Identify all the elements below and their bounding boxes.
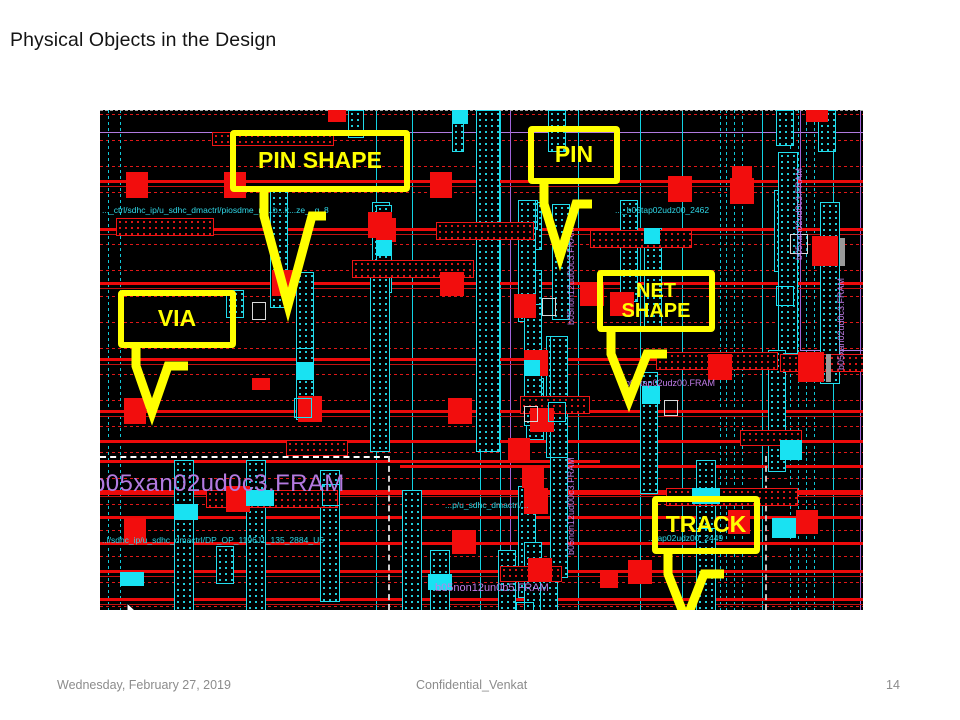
- via-cut: [826, 354, 831, 382]
- via: [628, 560, 652, 584]
- pin: [120, 572, 144, 586]
- standard-cell: [402, 490, 422, 610]
- via: [798, 352, 824, 382]
- callout-label-line2: SHAPE: [622, 301, 691, 321]
- callout-label: VIA: [158, 307, 196, 330]
- footer-confidential: Confidential_Venkat: [416, 678, 527, 692]
- region-boundary: [100, 456, 390, 458]
- via: [522, 466, 544, 488]
- callout-track[interactable]: TRACK: [652, 496, 832, 610]
- callout-via[interactable]: VIA: [118, 290, 298, 430]
- standard-cell: [216, 546, 234, 584]
- callout-label: PIN SHAPE: [258, 149, 382, 172]
- page-title: Physical Objects in the Design: [10, 29, 810, 52]
- instance-label-vertical: b05xan02ud0c3.FRAM: [836, 278, 846, 370]
- callout-net-shape[interactable]: NET SHAPE: [597, 270, 797, 500]
- pin: [452, 110, 468, 124]
- net-label: ..l/sdhc_ip/u_sdhc_dmactrl/DP_OP_1196J1_…: [102, 535, 324, 545]
- callout-pin[interactable]: PIN: [528, 126, 708, 276]
- via-cut: [840, 238, 845, 266]
- via: [452, 530, 476, 554]
- callout-label: PIN: [555, 143, 593, 166]
- via: [126, 172, 148, 198]
- pin: [296, 362, 314, 380]
- mouse-cursor: [126, 602, 140, 610]
- via-outline: [542, 298, 556, 316]
- instance-label: b05xan02ud0c3.FRAM: [100, 470, 345, 498]
- via-outline: [524, 406, 538, 422]
- via: [448, 398, 472, 424]
- via: [812, 236, 838, 266]
- instance-label-vertical: b05non12ud00c3.FRAM: [566, 457, 576, 555]
- net-label: ...p/u_sdhc_dmactrl/...: [445, 500, 529, 510]
- via-outline: [548, 402, 566, 422]
- pin: [524, 360, 540, 376]
- via-outline: [516, 602, 534, 610]
- via: [508, 438, 530, 460]
- instance-label: b05non12un0b5.FRAM: [435, 582, 549, 594]
- callout-label: TRACK: [666, 513, 747, 536]
- via: [732, 166, 752, 186]
- region-boundary: [388, 456, 390, 610]
- slide-canvas: Physical Objects in the Design: [0, 0, 960, 720]
- layout-view[interactable]: b05xan02ud0c3.FRAM ..._ctrl/sdhc_ip/u_sd…: [100, 110, 863, 610]
- instance-label-vertical: b05xan02ud0c3.FRAM: [794, 168, 804, 260]
- via: [806, 110, 828, 122]
- footer-date: Wednesday, February 27, 2019: [57, 678, 231, 692]
- via: [528, 558, 552, 582]
- footer-page-number: 14: [886, 678, 900, 692]
- callout-label-line1: NET: [636, 281, 676, 301]
- callout-pin-shape[interactable]: PIN SHAPE: [230, 130, 530, 300]
- via: [328, 110, 346, 122]
- metal-segment: [286, 440, 348, 456]
- via: [600, 570, 618, 588]
- metal-segment: [116, 218, 214, 236]
- standard-cell: [776, 110, 794, 146]
- pin: [174, 504, 198, 520]
